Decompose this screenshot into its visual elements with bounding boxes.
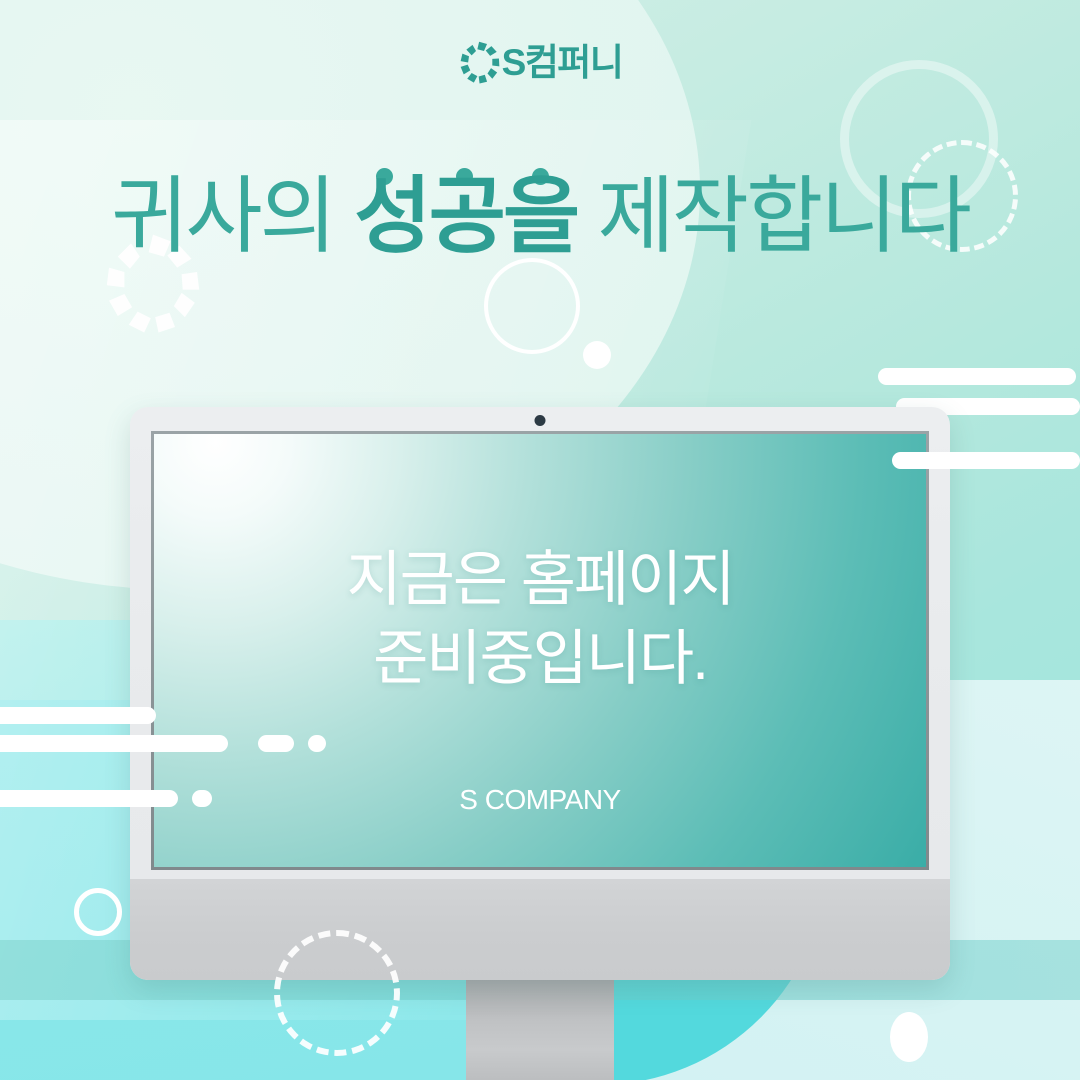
speed-dash-1 bbox=[258, 735, 294, 752]
brand-logo: S컴퍼니 bbox=[0, 40, 1080, 84]
speed-line-left-2 bbox=[0, 735, 228, 752]
ellipse-dot-icon-bottom-right bbox=[890, 1012, 928, 1062]
speed-line-left-3 bbox=[0, 790, 178, 807]
speed-line-right-3 bbox=[892, 452, 1080, 469]
headline-emphasis: 성공을 bbox=[354, 169, 577, 263]
brand-logo-text: S컴퍼니 bbox=[502, 44, 623, 81]
headline-part-2: 제작합니다 bbox=[577, 169, 969, 263]
page-title: 귀사의 성공을 제작합니다 bbox=[0, 174, 1080, 258]
monitor-stand-neck bbox=[466, 980, 614, 1080]
screen-message: 지금은 홈페이지 준비중입니다. bbox=[154, 540, 926, 698]
screen-message-line-1: 지금은 홈페이지 bbox=[154, 540, 926, 619]
dot-icon-middle bbox=[583, 341, 611, 369]
headline-part-1: 귀사의 bbox=[111, 169, 354, 263]
speed-dash-2 bbox=[308, 735, 326, 752]
webcam-dot-icon bbox=[535, 415, 546, 426]
speed-line-right-1 bbox=[878, 368, 1076, 385]
screen-brand-label: S COMPANY bbox=[154, 784, 926, 816]
speed-dash-3 bbox=[192, 790, 212, 807]
poster-canvas: S컴퍼니 귀사의 성공을 제작합니다 지금은 홈페이지 준비중입니다. S CO… bbox=[0, 0, 1080, 1080]
speed-line-left-1 bbox=[0, 707, 156, 724]
screen-message-line-2: 준비중입니다. bbox=[154, 619, 926, 698]
shutter-circle-icon bbox=[458, 40, 502, 84]
monitor-chin bbox=[130, 879, 950, 980]
circle-outline-icon-bottom-left bbox=[74, 888, 122, 936]
dashed-circle-icon-bottom bbox=[274, 930, 400, 1056]
circle-outline-icon-middle bbox=[484, 258, 580, 354]
monitor-screen: 지금은 홈페이지 준비중입니다. S COMPANY bbox=[154, 434, 926, 867]
monitor: 지금은 홈페이지 준비중입니다. S COMPANY bbox=[130, 407, 950, 980]
